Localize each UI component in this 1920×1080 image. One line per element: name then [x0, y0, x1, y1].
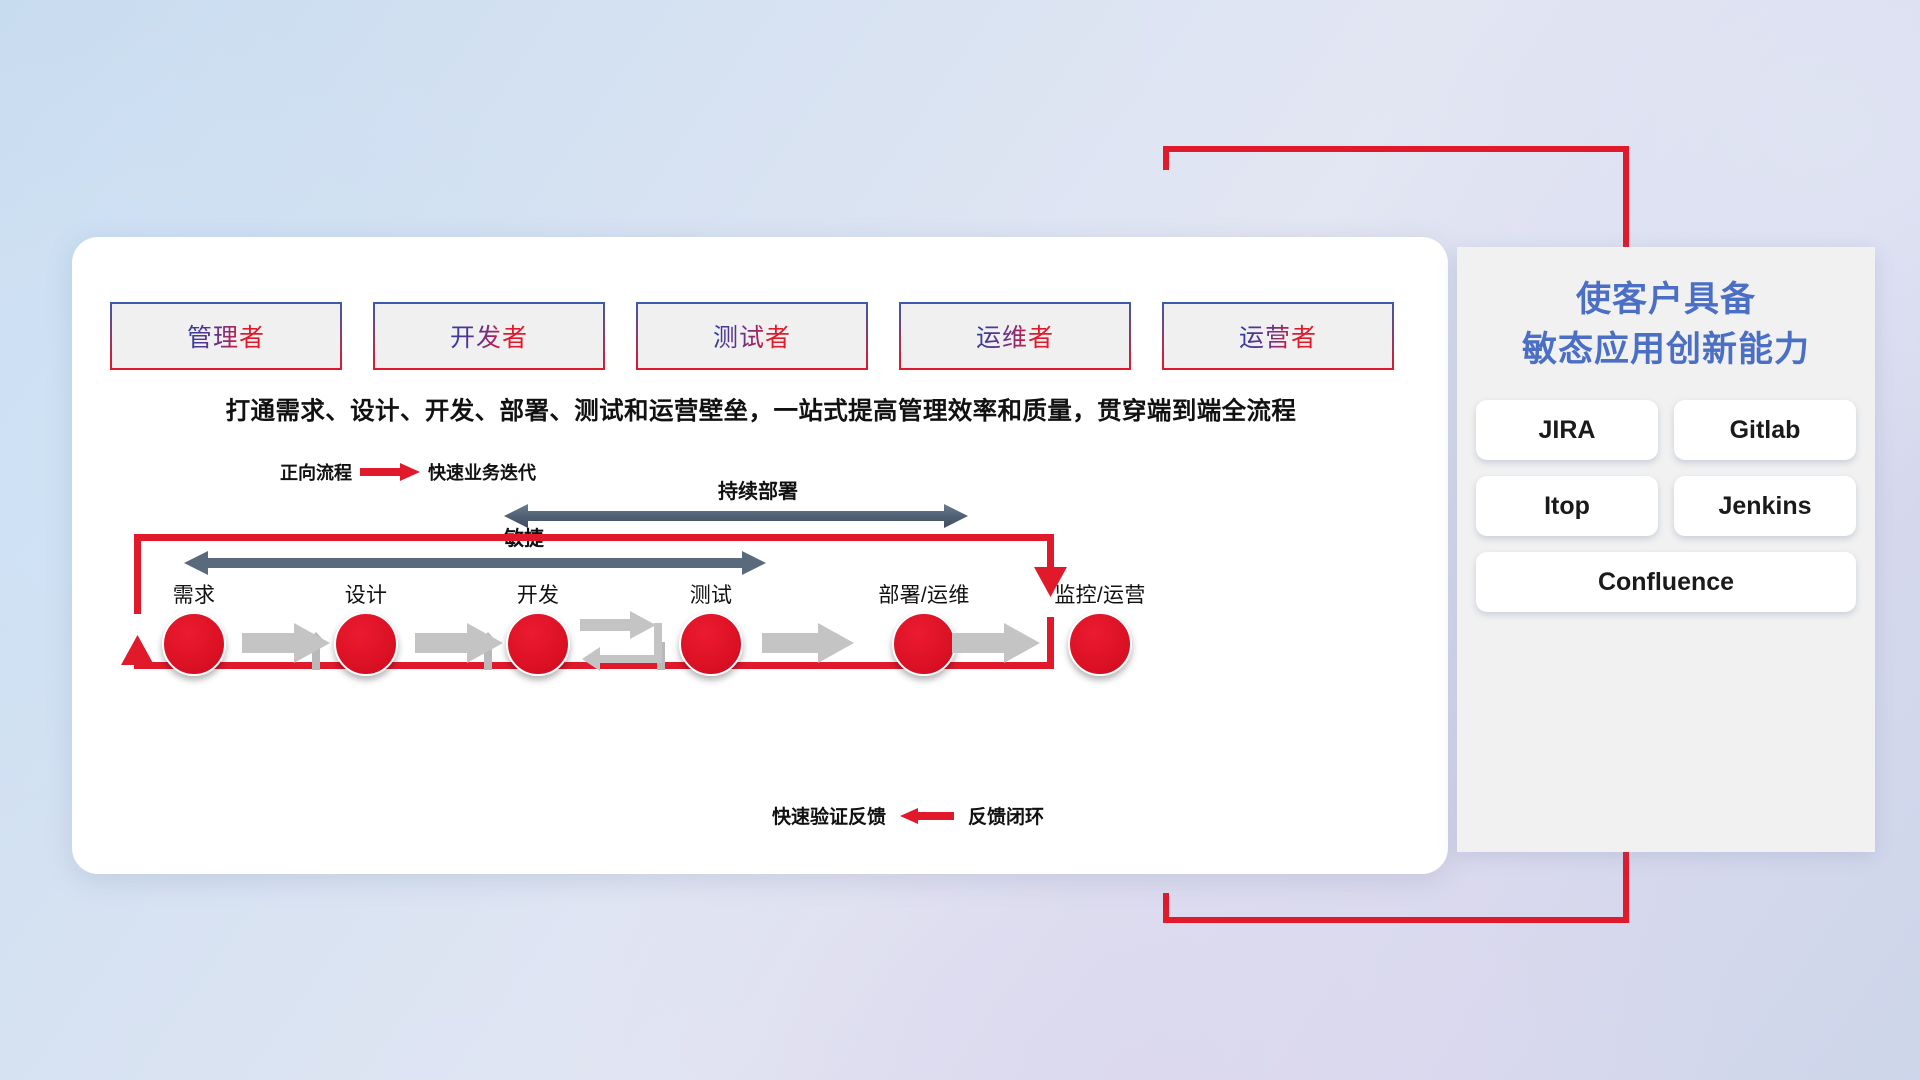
tool-itop[interactable]: Itop	[1476, 476, 1658, 536]
role-box-tester[interactable]: 测试者	[636, 302, 868, 370]
node-circle-monitor-business[interactable]	[1068, 612, 1132, 676]
legend-feedback: 快速验证反馈 反馈闭环	[772, 802, 1044, 829]
connector-top-horizontal	[1163, 146, 1629, 152]
role-label: 运维者	[976, 318, 1054, 354]
left-arrow-icon	[900, 808, 954, 824]
connector-bottom-vertical-left	[1163, 893, 1169, 923]
node-design[interactable]: 设计	[316, 579, 416, 676]
dev-test-loop-arrow	[580, 609, 664, 677]
role-label: 管理者	[187, 318, 265, 354]
node-circle-deploy-ops[interactable]	[892, 612, 956, 676]
role-box-operator[interactable]: 运维者	[899, 302, 1131, 370]
node-label: 测试	[661, 579, 761, 609]
node-label: 部署/运维	[854, 579, 994, 609]
legend-feedback-right-text: 反馈闭环	[968, 802, 1044, 829]
connector-bottom-horizontal	[1163, 917, 1629, 923]
chevron-arrow-1	[242, 622, 330, 664]
legend-forward-left-text: 正向流程	[280, 459, 352, 485]
node-circle-requirement[interactable]	[162, 612, 226, 676]
legend-forward-right-text: 快速业务迭代	[428, 459, 536, 485]
loop-left-bar	[134, 534, 141, 614]
node-test[interactable]: 测试	[661, 579, 761, 676]
slide-canvas: 管理者 开发者 测试者 运维者 运营者 打通需求、设计、开发、部署、测试和运营壁…	[0, 0, 1920, 1080]
node-circle-design[interactable]	[334, 612, 398, 676]
role-box-developer[interactable]: 开发者	[373, 302, 605, 370]
node-label: 需求	[144, 579, 244, 609]
continuous-deploy-arrow	[504, 503, 968, 529]
legend-feedback-left-text: 快速验证反馈	[772, 802, 886, 829]
role-box-manager[interactable]: 管理者	[110, 302, 342, 370]
tool-jenkins[interactable]: Jenkins	[1674, 476, 1856, 536]
main-card: 管理者 开发者 测试者 运维者 运营者 打通需求、设计、开发、部署、测试和运营壁…	[72, 237, 1448, 874]
node-label: 设计	[316, 579, 416, 609]
chevron-arrow-2	[415, 622, 503, 664]
side-heading-line-1: 使客户具备	[1457, 275, 1875, 325]
legend-forward-flow: 正向流程 快速业务迭代	[280, 459, 536, 485]
loop-top-bar	[134, 534, 1054, 541]
chevron-arrow-4	[762, 622, 854, 664]
node-circle-develop[interactable]	[506, 612, 570, 676]
side-panel: 使客户具备 敏态应用创新能力 JIRA Gitlab Itop Jenkins …	[1457, 247, 1875, 852]
role-box-business[interactable]: 运营者	[1162, 302, 1394, 370]
chevron-arrow-5	[952, 622, 1040, 664]
tool-confluence[interactable]: Confluence	[1476, 552, 1856, 612]
agile-arrow	[184, 550, 766, 576]
node-circle-test[interactable]	[679, 612, 743, 676]
role-label: 运营者	[1239, 318, 1317, 354]
tool-gitlab[interactable]: Gitlab	[1674, 400, 1856, 460]
node-label: 监控/运营	[1030, 579, 1170, 609]
card-subtitle: 打通需求、设计、开发、部署、测试和运营壁垒，一站式提高管理效率和质量，贯穿端到端…	[116, 392, 1406, 427]
node-develop[interactable]: 开发	[488, 579, 588, 676]
side-panel-heading: 使客户具备 敏态应用创新能力	[1457, 275, 1875, 374]
band-label-continuous-deploy: 持续部署	[718, 475, 798, 504]
node-requirement[interactable]: 需求	[144, 579, 244, 676]
tool-list: JIRA Gitlab Itop Jenkins Confluence	[1471, 400, 1861, 612]
tool-jira[interactable]: JIRA	[1476, 400, 1658, 460]
roles-row: 管理者 开发者 测试者 运维者 运营者	[110, 302, 1394, 370]
role-label: 测试者	[713, 318, 791, 354]
side-heading-line-2: 敏态应用创新能力	[1457, 325, 1875, 375]
right-arrow-icon	[360, 463, 420, 481]
node-label: 开发	[488, 579, 588, 609]
role-label: 开发者	[450, 318, 528, 354]
node-monitor-business[interactable]: 监控/运营	[1030, 579, 1170, 676]
